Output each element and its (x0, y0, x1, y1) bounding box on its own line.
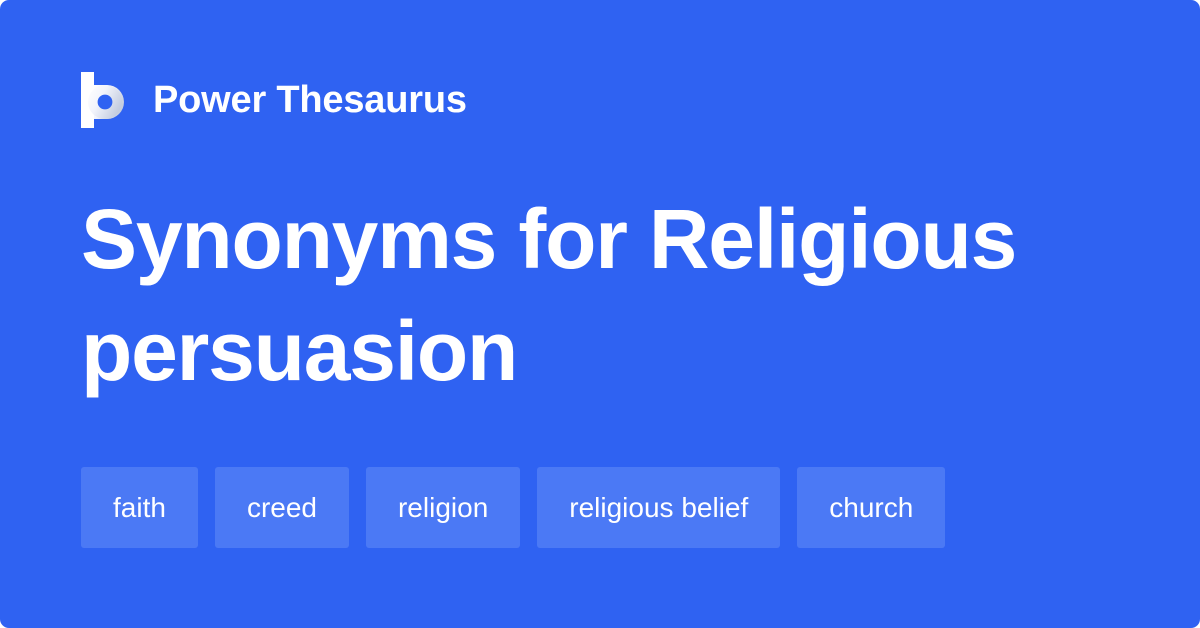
brand-name: Power Thesaurus (153, 81, 467, 119)
synonym-tag[interactable]: religion (366, 467, 520, 548)
synonym-tag[interactable]: faith (81, 467, 198, 548)
synonym-tag[interactable]: church (797, 467, 945, 548)
synonym-tag-label: religious belief (569, 494, 748, 522)
synonym-tag-label: creed (247, 494, 317, 522)
page-title: Synonyms for Religious persuasion (81, 183, 1081, 407)
synonym-tag[interactable]: creed (215, 467, 349, 548)
page-title-line-1: Synonyms for Religious (81, 192, 1016, 286)
page-title-line-2: persuasion (81, 304, 517, 398)
synonym-tag[interactable]: religious belief (537, 467, 780, 548)
synonym-tag-label: church (829, 494, 913, 522)
brand-lockup[interactable]: Power Thesaurus (81, 72, 467, 128)
synonym-tag-label: faith (113, 494, 166, 522)
synonym-tag-list: faith creed religion religious belief ch… (81, 467, 945, 548)
synonym-tag-label: religion (398, 494, 488, 522)
power-thesaurus-b-logo-icon (81, 72, 129, 128)
og-share-card: Power Thesaurus Synonyms for Religious p… (0, 0, 1200, 628)
